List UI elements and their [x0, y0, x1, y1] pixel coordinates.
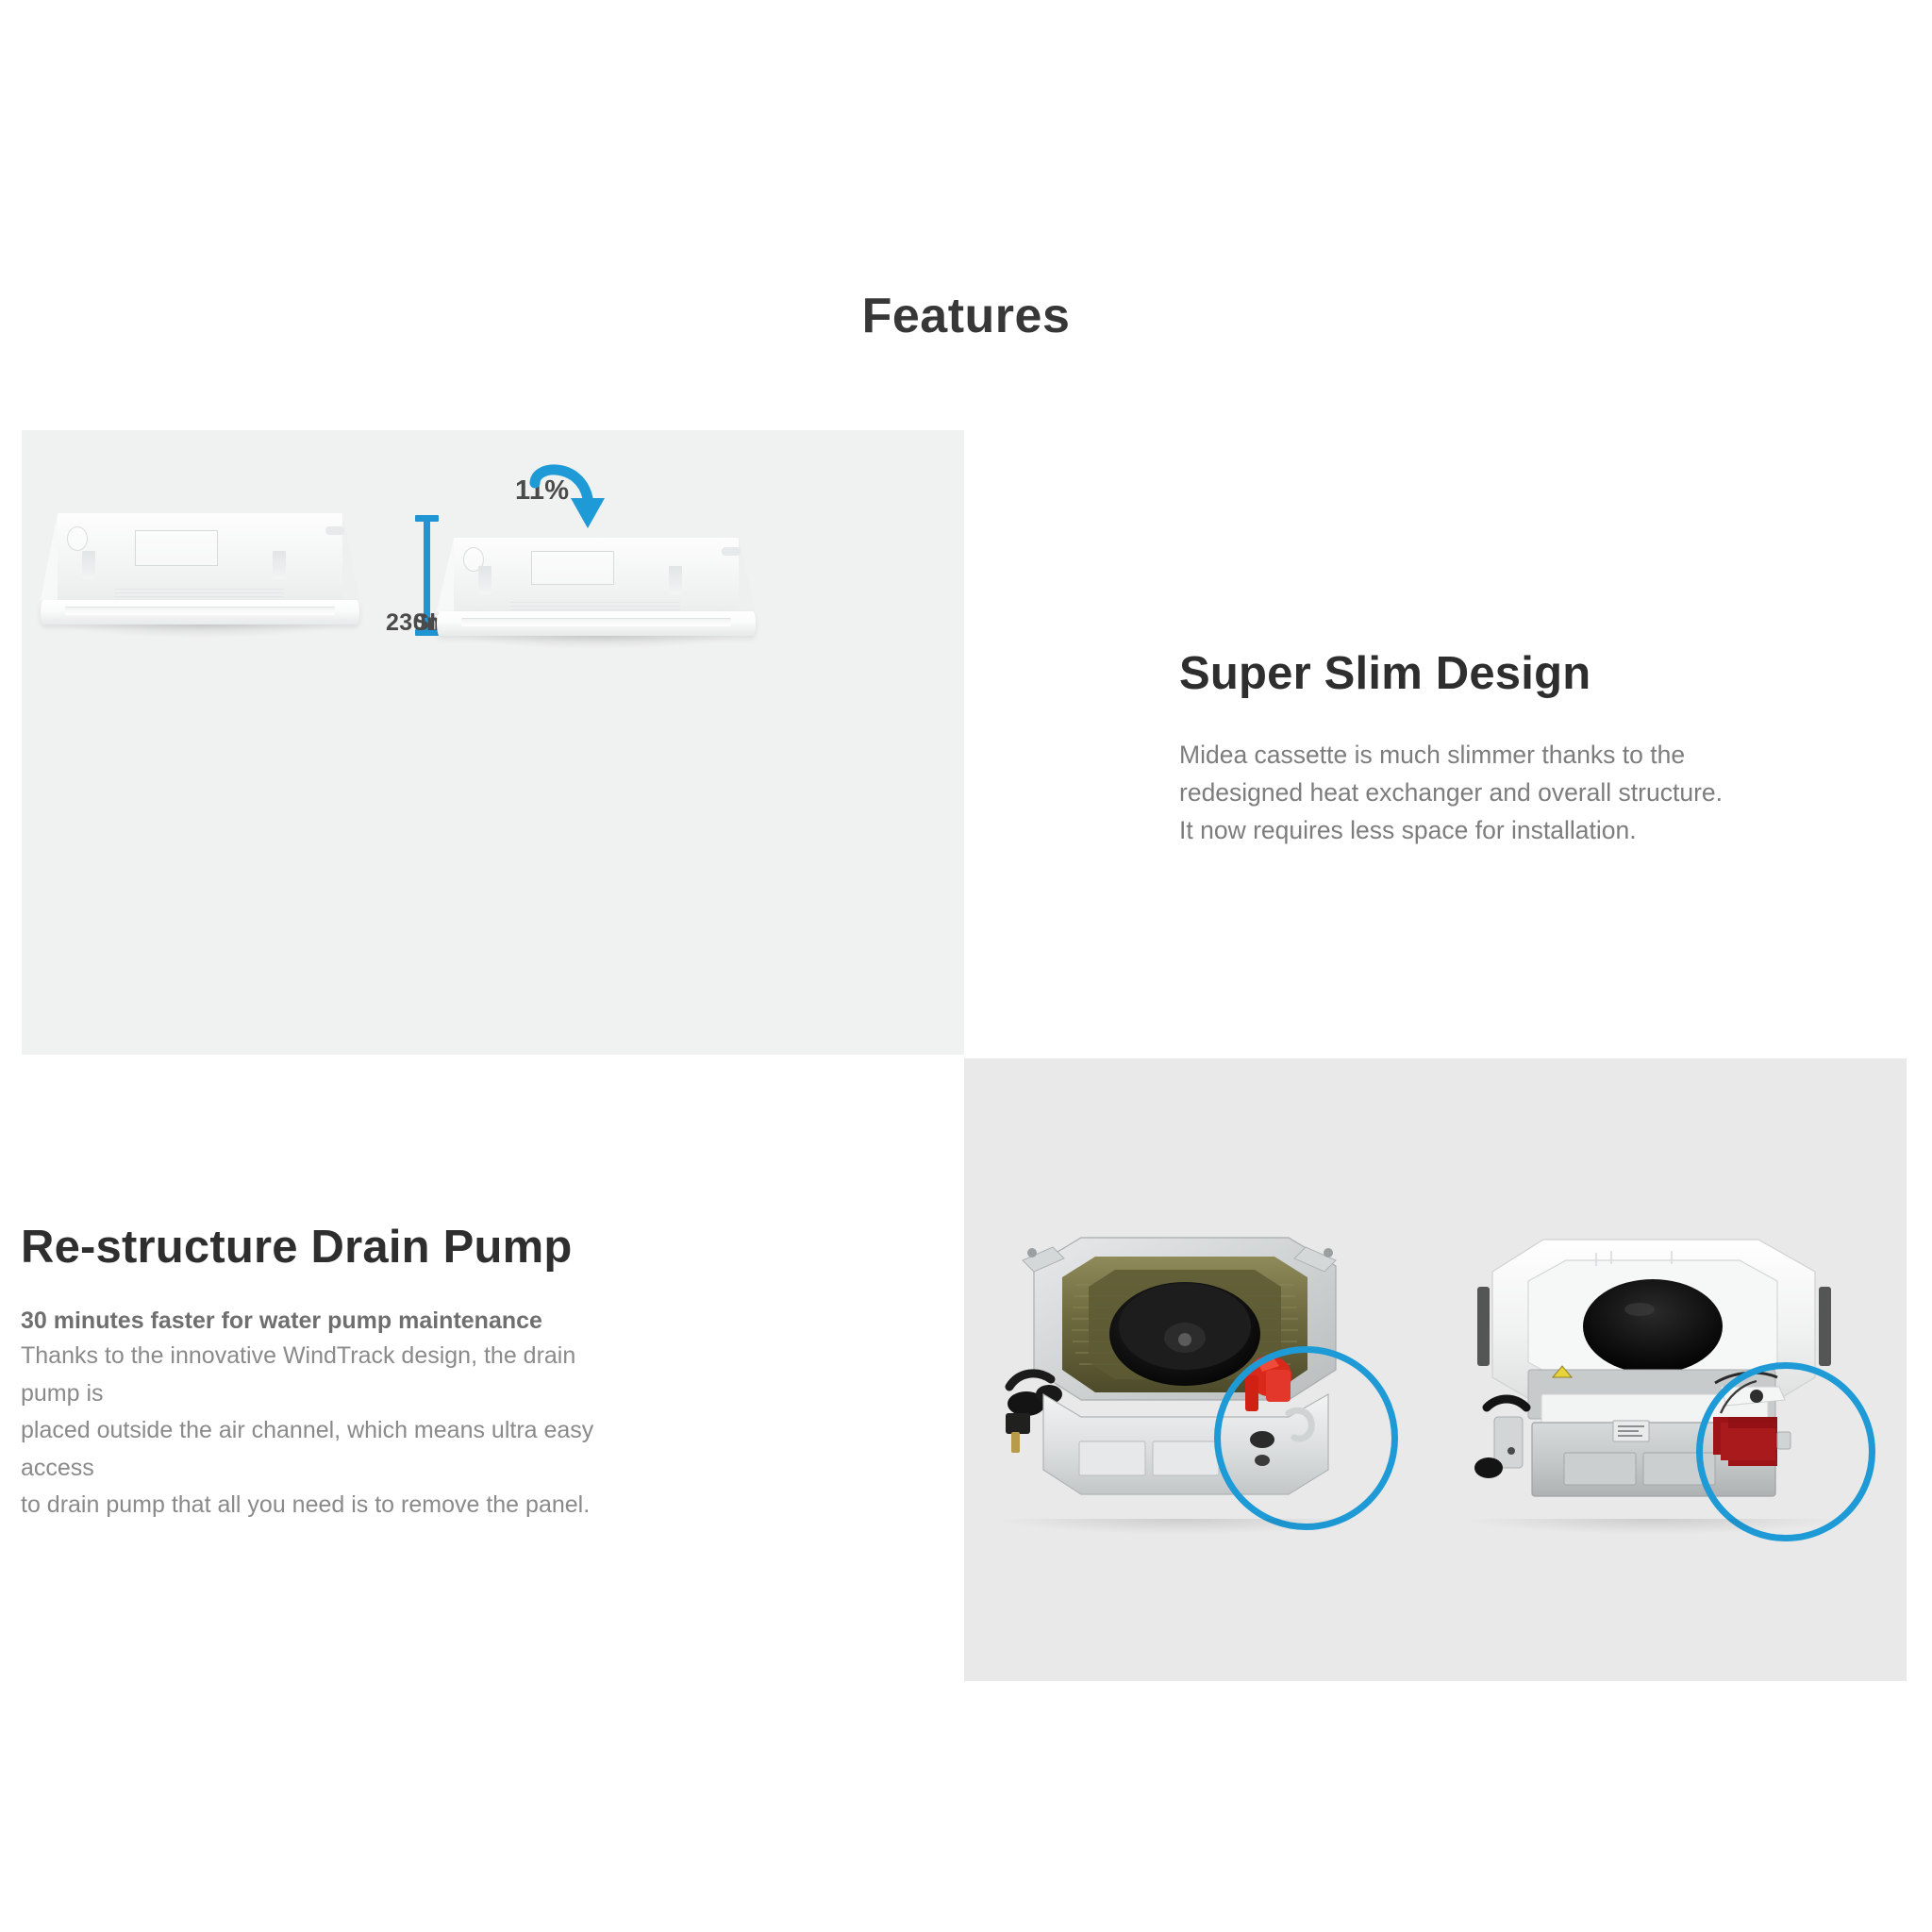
super-slim-design-heading: Super Slim Design — [1179, 649, 1877, 700]
cassette-bracket-left — [82, 551, 95, 579]
cassette-pipe-nub — [325, 526, 344, 535]
cassette-drop-shadow — [456, 636, 739, 649]
standard-cassette-illustration — [41, 513, 359, 651]
page-title: Features — [0, 288, 1932, 344]
cassette-drop-shadow — [59, 625, 342, 638]
body-line: Thanks to the innovative WindTrack desig… — [21, 1338, 908, 1375]
drain-pump-highlight-circle — [1214, 1346, 1398, 1530]
drain-pump-photo-panel — [964, 1058, 1907, 1681]
cassette-bevel-left — [437, 538, 454, 611]
curved-down-arrow-icon — [522, 460, 607, 549]
cassette-bracket-left — [478, 566, 491, 594]
slim-cassette-illustration — [437, 538, 756, 651]
drain-pump-heading: Re-structure Drain Pump — [21, 1223, 908, 1274]
cassette-louver-lines — [114, 589, 284, 600]
photo-drop-shadow — [1470, 1519, 1835, 1534]
body-line: It now requires less space for installat… — [1179, 811, 1877, 849]
body-line: pump is — [21, 1375, 908, 1413]
old-design-cassette-photo — [977, 1228, 1383, 1530]
cassette-bracket-right — [669, 566, 682, 594]
drain-pump-highlight-circle — [1696, 1362, 1875, 1541]
cassette-vent-circle — [67, 526, 88, 551]
drain-pump-block: Re-structure Drain Pump 30 minutes faste… — [21, 1223, 908, 1524]
photo-drop-shadow — [1002, 1519, 1358, 1534]
cassette-access-panel — [135, 530, 218, 566]
cassette-bracket-right — [273, 551, 286, 579]
body-line: Midea cassette is much slimmer thanks to… — [1179, 736, 1877, 774]
drain-pump-body: Thanks to the innovative WindTrack desig… — [21, 1338, 908, 1524]
cassette-bevel-left — [41, 513, 58, 600]
features-page: Features 230mm 11% — [0, 0, 1932, 1932]
drain-pump-lead: 30 minutes faster for water pump mainten… — [21, 1304, 908, 1338]
body-line: redesigned heat exchanger and overall st… — [1179, 774, 1877, 811]
super-slim-design-body: Midea cassette is much slimmer thanks to… — [1179, 736, 1877, 850]
cassette-pipe-nub — [722, 547, 741, 556]
cassette-bevel-right — [342, 513, 359, 600]
body-line: access — [21, 1450, 908, 1488]
cassette-face-panel — [437, 611, 756, 636]
super-slim-design-block: Super Slim Design Midea cassette is much… — [1179, 649, 1877, 850]
cassette-bevel-right — [739, 538, 756, 611]
new-design-cassette-photo — [1445, 1228, 1860, 1530]
cassette-face-panel — [41, 600, 359, 625]
body-line: placed outside the air channel, which me… — [21, 1412, 908, 1450]
cassette-access-panel — [531, 551, 614, 585]
slim-design-figure-panel: 230mm 11% Slimmest to 205mm — [22, 430, 964, 1055]
body-line: to drain pump that all you need is to re… — [21, 1487, 908, 1524]
